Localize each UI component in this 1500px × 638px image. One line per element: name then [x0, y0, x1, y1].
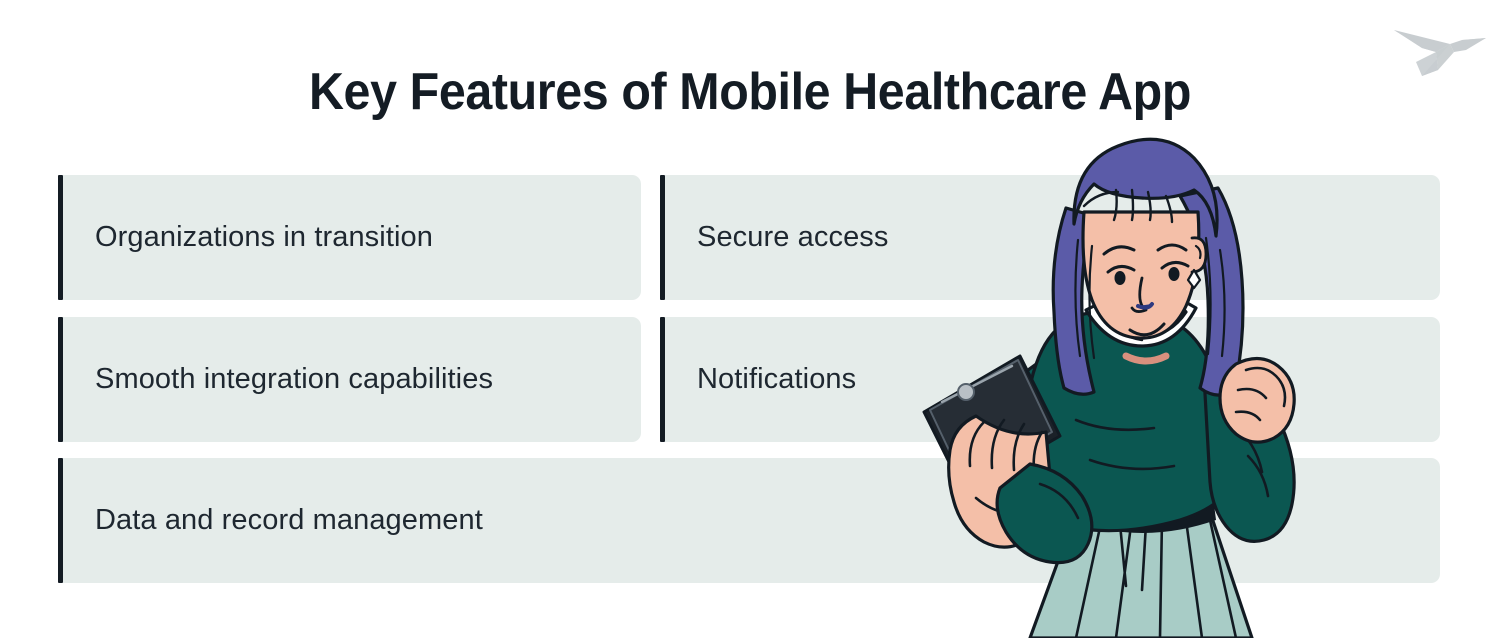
card-panel: Smooth integration capabilities — [63, 317, 641, 442]
feature-card-smooth-integration-capabilities[interactable]: Smooth integration capabilities — [58, 317, 641, 442]
origami-crane-icon — [1392, 18, 1488, 80]
infographic-canvas: Key Features of Mobile Healthcare App Or… — [0, 0, 1500, 638]
feature-card-organizations-in-transition[interactable]: Organizations in transition — [58, 175, 641, 300]
feature-label: Smooth integration capabilities — [63, 363, 493, 396]
feature-label: Data and record management — [63, 504, 483, 537]
woman-holding-smartphone-illustration — [880, 120, 1400, 638]
feature-label: Organizations in transition — [63, 221, 433, 254]
page-title: Key Features of Mobile Healthcare App — [53, 62, 1448, 122]
card-panel: Organizations in transition — [63, 175, 641, 300]
feature-label: Secure access — [665, 221, 889, 254]
feature-label: Notifications — [665, 363, 856, 396]
